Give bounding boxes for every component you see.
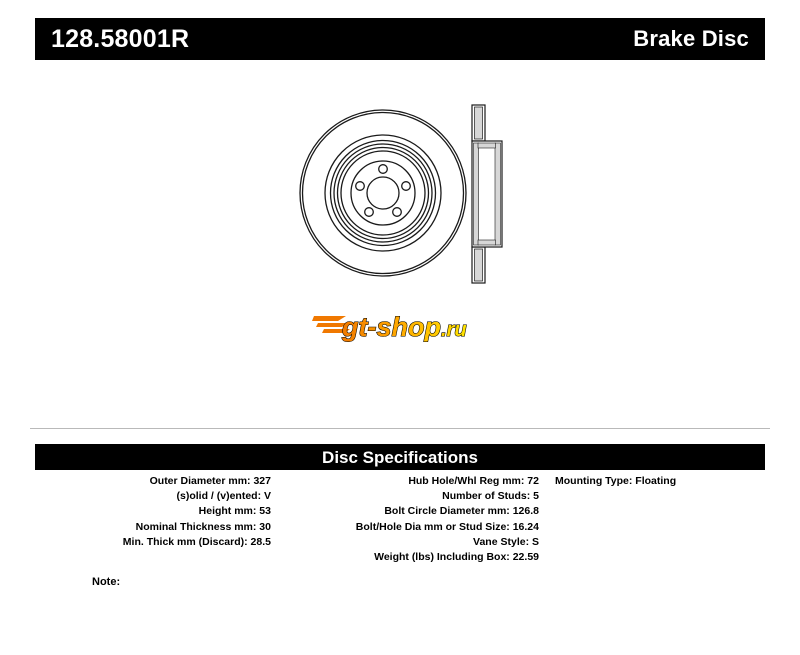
spec-column-right: Mounting Type: Floating (545, 474, 765, 489)
spec-line: Bolt Circle Diameter mm: 126.8 (280, 504, 539, 519)
document-kind-label: Brake Disc (633, 28, 749, 50)
spec-title-bar: Disc Specifications (35, 444, 765, 470)
note-row: Note: (35, 572, 765, 588)
section-divider (30, 428, 770, 429)
spec-line: Mounting Type: Floating (555, 474, 765, 489)
spec-line: Nominal Thickness mm: 30 (35, 520, 271, 535)
part-number: 128.58001R (51, 27, 189, 52)
spec-line: (s)olid / (v)ented: V (35, 489, 271, 504)
stud-hole (356, 182, 365, 191)
spec-line: Hub Hole/Whl Reg mm: 72 (280, 474, 539, 489)
gt-shop-watermark: gt-shop.ru (312, 302, 492, 350)
spec-sheet: 128.58001R Brake Disc (0, 0, 800, 655)
stud-hole (402, 182, 411, 191)
spec-line: Outer Diameter mm: 327 (35, 474, 271, 489)
watermark-text: gt-shop.ru (341, 312, 467, 342)
spec-line: Min. Thick mm (Discard): 28.5 (35, 535, 271, 550)
product-drawing (290, 100, 510, 290)
spec-line: Vane Style: S (280, 535, 539, 550)
spec-column-left: Outer Diameter mm: 327 (s)olid / (v)ente… (35, 474, 280, 550)
header-bar: 128.58001R Brake Disc (35, 18, 765, 60)
spec-column-middle: Hub Hole/Whl Reg mm: 72 Number of Studs:… (280, 474, 545, 565)
stud-hole (393, 208, 402, 217)
spec-line: Number of Studs: 5 (280, 489, 539, 504)
spec-title: Disc Specifications (322, 449, 478, 466)
note-label: Note: (92, 576, 120, 588)
stud-hole (365, 208, 374, 217)
spec-columns: Outer Diameter mm: 327 (s)olid / (v)ente… (35, 474, 765, 565)
stud-hole (379, 165, 388, 174)
note-value (126, 572, 765, 585)
spec-line: Height mm: 53 (35, 504, 271, 519)
brake-rotor-front-view (300, 110, 466, 276)
brake-rotor-cross-section (472, 105, 502, 283)
spec-line: Weight (lbs) Including Box: 22.59 (280, 550, 539, 565)
spec-line: Bolt/Hole Dia mm or Stud Size: 16.24 (280, 520, 539, 535)
